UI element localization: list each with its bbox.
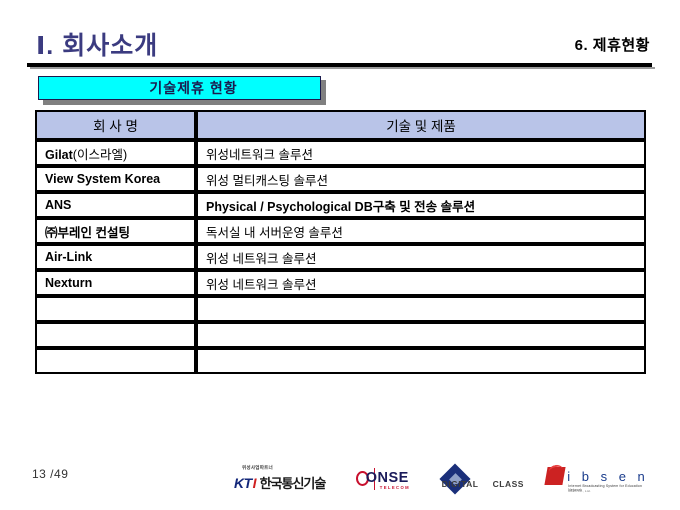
table-header-row: 회 사 명 기술 및 제품 xyxy=(35,110,646,140)
company-name-bold: ANS xyxy=(45,198,71,212)
kti-name: 한국통신기술 xyxy=(260,473,326,492)
ibsen-name: i b s e n xyxy=(567,469,649,484)
cell-tech-description: Physical / Psychological DB구축 및 전송 솔루션 xyxy=(196,192,646,218)
cell-tech-description xyxy=(196,322,646,348)
partners-table: 회 사 명 기술 및 제품 Gilat(이스라엘)위성네트워크 솔루션View … xyxy=(35,110,646,374)
cell-tech-description: 위성 네트워크 솔루션 xyxy=(196,244,646,270)
onse-logo: ONSE TELECOM xyxy=(354,466,424,494)
section-banner-label: 기술제휴 현황 xyxy=(121,78,237,98)
kti-logo: 위성사업파트너 KT I 한국통신기술 xyxy=(232,465,338,495)
cell-tech-description: 독서실 내 서버운영 솔루션 xyxy=(196,218,646,244)
table-row xyxy=(35,296,646,322)
slide-canvas: Ⅰ. 회사소개 6. 제휴현황 기술제휴 현황 회 사 명 기술 및 제품 Gi… xyxy=(0,0,680,510)
company-name-bold: Gilat xyxy=(45,148,73,162)
ibsen-logo: i b s e n Internet Broadcasting System f… xyxy=(546,465,652,495)
cell-company-name xyxy=(35,296,196,322)
kti-accent: I xyxy=(253,475,257,491)
cell-tech-description xyxy=(196,348,646,374)
section-banner: 기술제휴 현황 xyxy=(38,76,321,100)
cell-company-name xyxy=(35,322,196,348)
cell-tech-description: 위성 네트워크 솔루션 xyxy=(196,270,646,296)
cell-company-name: ㈜부레인 컨설팅 xyxy=(35,218,196,244)
table-row: Air-Link위성 네트워크 솔루션 xyxy=(35,244,646,270)
company-name-bold: Nexturn xyxy=(45,276,92,290)
cell-company-name: Nexturn xyxy=(35,270,196,296)
partner-logo-strip: 위성사업파트너 KT I 한국통신기술 ONSE TELECOM DIGITAL… xyxy=(232,464,652,496)
kti-tagline: 위성사업파트너 xyxy=(242,465,273,471)
table-row: View System Korea위성 멀티캐스팅 솔루션 xyxy=(35,166,646,192)
table-row: Gilat(이스라엘)위성네트워크 솔루션 xyxy=(35,140,646,166)
table-row xyxy=(35,348,646,374)
cell-company-name xyxy=(35,348,196,374)
cell-tech-description xyxy=(196,296,646,322)
page-number: 13 /49 xyxy=(32,467,68,481)
cell-company-name: Gilat(이스라엘) xyxy=(35,140,196,166)
table-row: ㈜부레인 컨설팅독서실 내 서버운영 솔루션 xyxy=(35,218,646,244)
section-label: 6. 제휴현황 xyxy=(575,34,650,55)
column-header-company: 회 사 명 xyxy=(35,110,196,140)
table-row: Nexturn위성 네트워크 솔루션 xyxy=(35,270,646,296)
company-name-rest: ㈜부레인 컨설팅 xyxy=(45,226,130,240)
table-row xyxy=(35,322,646,348)
cell-company-name: View System Korea xyxy=(35,166,196,192)
digital-class-word2: CLASS xyxy=(493,479,524,489)
company-name-bold: View System Korea xyxy=(45,172,160,186)
onse-name: ONSE xyxy=(366,470,409,486)
company-name-rest: (이스라엘) xyxy=(73,148,127,162)
company-name-bold: Air-Link xyxy=(45,250,92,264)
cell-company-name: ANS xyxy=(35,192,196,218)
onse-subtitle: TELECOM xyxy=(380,485,410,490)
digital-class-word1: DIGITAL xyxy=(442,479,479,489)
column-header-tech: 기술 및 제품 xyxy=(196,110,646,140)
page-title: Ⅰ. 회사소개 xyxy=(36,26,158,62)
kti-mark: KT xyxy=(234,475,252,491)
digital-class-logo: DIGITAL CLASS xyxy=(440,466,531,494)
ibsen-subtitle-2: Ibsen Co., Ltd. xyxy=(568,489,591,493)
cell-company-name: Air-Link xyxy=(35,244,196,270)
cell-tech-description: 위성네트워크 솔루션 xyxy=(196,140,646,166)
title-divider-shadow xyxy=(30,67,655,69)
partners-table-wrapper: 회 사 명 기술 및 제품 Gilat(이스라엘)위성네트워크 솔루션View … xyxy=(35,110,646,374)
cell-tech-description: 위성 멀티캐스팅 솔루션 xyxy=(196,166,646,192)
table-row: ANSPhysical / Psychological DB구축 및 전송 솔루… xyxy=(35,192,646,218)
partners-table-body: 회 사 명 기술 및 제품 Gilat(이스라엘)위성네트워크 솔루션View … xyxy=(35,110,646,374)
